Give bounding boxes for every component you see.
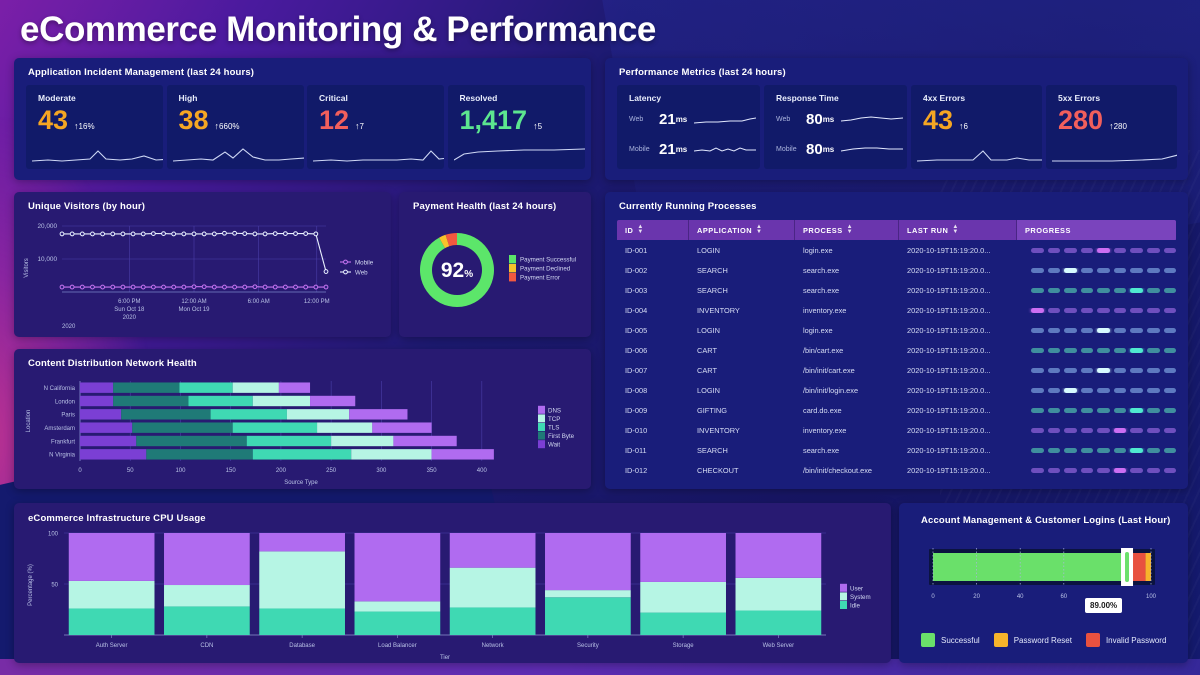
progress-segment (1164, 328, 1177, 333)
cell-application: INVENTORY (689, 306, 795, 315)
svg-text:6:00 AM: 6:00 AM (248, 299, 270, 305)
progress-segment (1147, 428, 1160, 433)
table-row[interactable]: ID-012 CHECKOUT /bin/init/checkout.exe 2… (617, 460, 1176, 480)
accounts-panel: Account Management & Customer Logins (La… (899, 503, 1188, 663)
incident-card-label: Resolved (460, 93, 498, 103)
cell-id: ID-006 (617, 346, 689, 355)
svg-text:300: 300 (376, 468, 387, 474)
svg-text:250: 250 (326, 468, 337, 474)
cell-last-run: 2020-10-19T15:19:20.0... (899, 446, 1017, 455)
progress-segment (1048, 428, 1061, 433)
cell-progress (1017, 448, 1176, 453)
progress-segment (1097, 268, 1110, 273)
progress-segment (1164, 288, 1177, 293)
incident-card-resolved[interactable]: Resolved 1,417 ↑5 (448, 85, 585, 169)
progress-segment (1031, 468, 1044, 473)
progress-segment (1064, 388, 1077, 393)
cell-process: inventory.exe (795, 306, 899, 315)
incident-card-label: Moderate (38, 93, 76, 103)
accounts-title: Account Management & Customer Logins (La… (921, 515, 1170, 526)
incident-sparkline (313, 139, 444, 165)
cell-id: ID-003 (617, 286, 689, 295)
svg-text:TCP: TCP (548, 416, 560, 423)
perf-card-label: Latency (629, 93, 661, 103)
sort-icon[interactable]: ▲▼ (756, 225, 762, 236)
svg-text:92%: 92% (441, 259, 473, 282)
svg-text:Storage: Storage (673, 643, 695, 649)
legend-label: Invalid Password (1106, 636, 1166, 645)
svg-text:Web: Web (355, 269, 368, 276)
cell-process: search.exe (795, 266, 899, 275)
progress-segment (1031, 328, 1044, 333)
sort-icon[interactable]: ▲▼ (637, 225, 643, 236)
svg-text:12:00 PM: 12:00 PM (304, 299, 330, 305)
progress-segment (1081, 308, 1094, 313)
table-row[interactable]: ID-003 SEARCH search.exe 2020-10-19T15:1… (617, 280, 1176, 300)
progress-segment (1031, 288, 1044, 293)
cpu-usage-chart[interactable]: 50100Auth ServerCDNDatabaseLoad Balancer… (14, 527, 891, 663)
incident-card-delta: ↑16% (74, 121, 95, 131)
cell-application: CART (689, 366, 795, 375)
progress-segment (1097, 448, 1110, 453)
processes-panel: Currently Running Processes ID▲▼APPLICAT… (605, 192, 1188, 489)
sort-icon[interactable]: ▲▼ (847, 225, 853, 236)
incident-sparkline (454, 139, 585, 165)
svg-text:System: System (850, 594, 871, 601)
perf-card-latency[interactable]: Latency Web 21 ms Mobile 21 ms (617, 85, 760, 169)
column-header-label: PROCESS (803, 226, 843, 235)
cell-progress (1017, 308, 1176, 313)
progress-segment (1081, 328, 1094, 333)
perf-row: Mobile 21 ms (629, 141, 756, 158)
cell-last-run: 2020-10-19T15:19:20.0... (899, 426, 1017, 435)
svg-text:N California: N California (44, 386, 76, 392)
progress-segment (1097, 288, 1110, 293)
perf-row-unit: ms (823, 145, 835, 154)
cell-id: ID-004 (617, 306, 689, 315)
svg-text:6:00 PM: 6:00 PM (118, 299, 140, 305)
legend-item-password-reset[interactable]: Password Reset (994, 633, 1072, 647)
cell-progress (1017, 428, 1176, 433)
progress-segment (1048, 248, 1061, 253)
cell-process: /bin/init/login.exe (795, 386, 899, 395)
progress-segment (1147, 288, 1160, 293)
progress-segment (1147, 468, 1160, 473)
svg-text:20,000: 20,000 (37, 223, 57, 230)
svg-text:20: 20 (973, 594, 980, 600)
svg-text:50: 50 (51, 582, 58, 588)
perf-card-response-time[interactable]: Response Time Web 80 ms Mobile 80 ms (764, 85, 907, 169)
cell-last-run: 2020-10-19T15:19:20.0... (899, 306, 1017, 315)
unique-visitors-panel: Unique Visitors (by hour) 10,00020,0006:… (14, 192, 391, 337)
table-row[interactable]: ID-001 LOGIN login.exe 2020-10-19T15:19:… (617, 240, 1176, 260)
progress-segment (1081, 468, 1094, 473)
progress-segment (1064, 428, 1077, 433)
svg-text:Tier: Tier (440, 655, 450, 661)
accounts-legend: Successful Password Reset Invalid Passwo… (921, 633, 1166, 647)
page-title: eCommerce Monitoring & Performance (20, 10, 656, 50)
progress-segment (1031, 268, 1044, 273)
progress-segment (1031, 348, 1044, 353)
perf-row-value: 80 (806, 141, 823, 158)
progress-segment (1164, 248, 1177, 253)
cell-progress (1017, 368, 1176, 373)
progress-segment (1130, 288, 1143, 293)
perf-row-device: Mobile (776, 146, 806, 153)
table-row[interactable]: ID-011 SEARCH search.exe 2020-10-19T15:1… (617, 440, 1176, 460)
svg-text:400: 400 (477, 468, 488, 474)
cell-application: LOGIN (689, 326, 795, 335)
incident-panel-title: Application Incident Management (last 24… (28, 67, 254, 78)
cell-id: ID-001 (617, 246, 689, 255)
cell-progress (1017, 348, 1176, 353)
progress-segment (1114, 248, 1127, 253)
table-row[interactable]: ID-006 CART /bin/cart.exe 2020-10-19T15:… (617, 340, 1176, 360)
progress-segment (1147, 328, 1160, 333)
perf-row-sparkline (841, 112, 903, 128)
cell-id: ID-002 (617, 266, 689, 275)
perf-card-4xx-errors[interactable]: 4xx Errors 43 ↑6 (911, 85, 1042, 169)
progress-segment (1114, 368, 1127, 373)
table-row[interactable]: ID-009 GIFTING card.do.exe 2020-10-19T15… (617, 400, 1176, 420)
legend-label: Successful (941, 636, 980, 645)
svg-text:2020: 2020 (123, 315, 137, 321)
svg-text:200: 200 (276, 468, 287, 474)
incident-card-value: 1,417 (460, 107, 528, 134)
progress-segment (1114, 408, 1127, 413)
svg-text:CDN: CDN (200, 643, 213, 649)
incident-card-label: Critical (319, 93, 348, 103)
progress-segment (1064, 308, 1077, 313)
svg-text:0: 0 (931, 594, 935, 600)
progress-segment (1147, 408, 1160, 413)
progress-segment (1031, 428, 1044, 433)
incident-card-delta: ↑5 (533, 121, 542, 131)
column-header-process[interactable]: PROCESS▲▼ (795, 220, 899, 240)
column-header-label: APPLICATION (697, 226, 752, 235)
progress-segment (1114, 288, 1127, 293)
progress-segment (1048, 448, 1061, 453)
table-row[interactable]: ID-005 LOGIN login.exe 2020-10-19T15:19:… (617, 320, 1176, 340)
progress-segment (1097, 468, 1110, 473)
processes-table[interactable]: ID▲▼APPLICATION▲▼PROCESS▲▼LAST RUN▲▼PROG… (617, 220, 1176, 480)
cdn-health-panel: Content Distribution Network Health 0501… (14, 349, 591, 489)
cell-process: login.exe (795, 246, 899, 255)
column-header-label: LAST RUN (907, 226, 948, 235)
progress-segment (1081, 248, 1094, 253)
incident-card-moderate[interactable]: Moderate 43 ↑16% (26, 85, 163, 169)
progress-segment (1064, 448, 1077, 453)
progress-segment (1164, 388, 1177, 393)
cell-last-run: 2020-10-19T15:19:20.0... (899, 386, 1017, 395)
cell-last-run: 2020-10-19T15:19:20.0... (899, 466, 1017, 475)
progress-segment (1164, 308, 1177, 313)
performance-panel: Performance Metrics (last 24 hours) Late… (605, 58, 1188, 180)
legend-swatch (1086, 633, 1100, 647)
svg-text:Web Server: Web Server (763, 643, 795, 649)
svg-text:150: 150 (226, 468, 237, 474)
payment-health-donut[interactable]: 92%Payment SuccessfulPayment DeclinedPay… (399, 220, 591, 332)
svg-text:User: User (850, 585, 863, 592)
perf-row-value: 80 (806, 111, 823, 128)
perf-row-device: Web (629, 116, 659, 123)
perf-card-label: Response Time (776, 93, 839, 103)
svg-text:Wait: Wait (548, 442, 560, 449)
progress-segment (1114, 348, 1127, 353)
cell-last-run: 2020-10-19T15:19:20.0... (899, 326, 1017, 335)
incident-card-high[interactable]: High 38 ↑660% (167, 85, 304, 169)
progress-segment (1097, 388, 1110, 393)
progress-segment (1114, 328, 1127, 333)
perf-row-sparkline (694, 142, 756, 158)
processes-title: Currently Running Processes (619, 201, 757, 212)
perf-card-value: 43 (923, 107, 953, 134)
payment-health-panel: Payment Health (last 24 hours) 92%Paymen… (399, 192, 591, 337)
cpu-usage-panel: eCommerce Infrastructure CPU Usage 50100… (14, 503, 891, 663)
legend-label: Password Reset (1014, 636, 1072, 645)
progress-segment (1114, 268, 1127, 273)
cell-last-run: 2020-10-19T15:19:20.0... (899, 406, 1017, 415)
incident-card-delta: ↑660% (215, 121, 240, 131)
svg-text:Frankfurt: Frankfurt (51, 439, 75, 445)
progress-segment (1164, 268, 1177, 273)
progress-segment (1081, 448, 1094, 453)
progress-segment (1031, 408, 1044, 413)
cell-progress (1017, 388, 1176, 393)
progress-segment (1097, 368, 1110, 373)
column-header-application[interactable]: APPLICATION▲▼ (689, 220, 795, 240)
svg-text:10,000: 10,000 (37, 256, 57, 263)
svg-text:Sun Oct 18: Sun Oct 18 (114, 307, 145, 313)
progress-segment (1130, 348, 1143, 353)
cpu-usage-title: eCommerce Infrastructure CPU Usage (28, 513, 206, 524)
progress-segment (1048, 268, 1061, 273)
cell-application: LOGIN (689, 386, 795, 395)
progress-segment (1081, 408, 1094, 413)
column-header-progress[interactable]: PROGRESS (1017, 220, 1176, 240)
perf-card-5xx-errors[interactable]: 5xx Errors 280 ↑280 (1046, 85, 1177, 169)
perf-card-sparkline (917, 139, 1042, 165)
cell-last-run: 2020-10-19T15:19:20.0... (899, 246, 1017, 255)
progress-segment (1147, 448, 1160, 453)
progress-segment (1081, 288, 1094, 293)
column-header-label: ID (625, 226, 633, 235)
progress-segment (1164, 448, 1177, 453)
incident-card-critical[interactable]: Critical 12 ↑7 (307, 85, 444, 169)
progress-segment (1164, 468, 1177, 473)
accounts-gauge-chart[interactable]: 0204060100 (899, 535, 1188, 625)
perf-row-unit: ms (676, 115, 688, 124)
progress-segment (1130, 388, 1143, 393)
svg-text:Idle: Idle (850, 603, 861, 610)
cell-application: GIFTING (689, 406, 795, 415)
progress-segment (1031, 248, 1044, 253)
legend-item-successful[interactable]: Successful (921, 633, 980, 647)
svg-text:60: 60 (1060, 594, 1067, 600)
progress-segment (1130, 328, 1143, 333)
svg-text:0: 0 (78, 468, 82, 474)
svg-text:First Byte: First Byte (548, 433, 575, 440)
progress-segment (1064, 248, 1077, 253)
incident-card-value: 38 (179, 107, 209, 134)
svg-text:350: 350 (427, 468, 438, 474)
perf-row-value: 21 (659, 111, 676, 128)
cell-last-run: 2020-10-19T15:19:20.0... (899, 346, 1017, 355)
perf-row-device: Mobile (629, 146, 659, 153)
sort-icon[interactable]: ▲▼ (952, 225, 958, 236)
perf-row-device: Web (776, 116, 806, 123)
cell-progress (1017, 328, 1176, 333)
table-row[interactable]: ID-002 SEARCH search.exe 2020-10-19T15:1… (617, 260, 1176, 280)
cell-last-run: 2020-10-19T15:19:20.0... (899, 266, 1017, 275)
svg-text:Payment Error: Payment Error (520, 275, 560, 282)
svg-text:Network: Network (482, 643, 505, 649)
cell-last-run: 2020-10-19T15:19:20.0... (899, 366, 1017, 375)
progress-segment (1081, 428, 1094, 433)
table-row[interactable]: ID-008 LOGIN /bin/init/login.exe 2020-10… (617, 380, 1176, 400)
progress-segment (1164, 428, 1177, 433)
progress-segment (1064, 468, 1077, 473)
perf-card-delta: ↑6 (959, 121, 968, 131)
table-row[interactable]: ID-004 INVENTORY inventory.exe 2020-10-1… (617, 300, 1176, 320)
cell-id: ID-007 (617, 366, 689, 375)
cdn-health-chart[interactable]: 050100150200250300350400N CaliforniaLond… (14, 371, 591, 489)
progress-segment (1164, 368, 1177, 373)
perf-row-sparkline (694, 112, 756, 128)
incident-card-label: High (179, 93, 198, 103)
progress-segment (1164, 348, 1177, 353)
perf-card-delta: ↑280 (1109, 121, 1127, 131)
progress-segment (1048, 308, 1061, 313)
perf-card-label: 4xx Errors (923, 93, 965, 103)
perf-row-sparkline (841, 142, 903, 158)
progress-segment (1097, 248, 1110, 253)
cell-progress (1017, 408, 1176, 413)
column-header-last-run[interactable]: LAST RUN▲▼ (899, 220, 1017, 240)
incident-card-delta: ↑7 (355, 121, 364, 131)
svg-text:TLS: TLS (548, 425, 559, 432)
perf-row-value: 21 (659, 141, 676, 158)
processes-table-body: ID-001 LOGIN login.exe 2020-10-19T15:19:… (617, 240, 1176, 480)
unique-visitors-chart[interactable]: 10,00020,0006:00 PMSun Oct 18202012:00 A… (14, 218, 391, 336)
progress-segment (1130, 268, 1143, 273)
cell-application: INVENTORY (689, 426, 795, 435)
cell-process: inventory.exe (795, 426, 899, 435)
progress-segment (1081, 388, 1094, 393)
svg-text:Mobile: Mobile (355, 259, 374, 266)
cell-progress (1017, 248, 1176, 253)
progress-segment (1164, 408, 1177, 413)
progress-segment (1048, 348, 1061, 353)
column-header-label: PROGRESS (1025, 226, 1071, 235)
svg-text:Database: Database (289, 643, 315, 649)
gauge-marker-label: 89.00% (1085, 598, 1122, 613)
perf-row: Web 21 ms (629, 111, 756, 128)
cdn-health-title: Content Distribution Network Health (28, 358, 197, 369)
cell-last-run: 2020-10-19T15:19:20.0... (899, 286, 1017, 295)
cell-progress (1017, 468, 1176, 473)
cell-process: login.exe (795, 326, 899, 335)
progress-segment (1031, 448, 1044, 453)
progress-segment (1114, 448, 1127, 453)
progress-segment (1130, 468, 1143, 473)
progress-segment (1147, 348, 1160, 353)
progress-segment (1147, 368, 1160, 373)
progress-segment (1064, 368, 1077, 373)
progress-segment (1130, 428, 1143, 433)
incident-sparkline (32, 139, 163, 165)
progress-segment (1147, 388, 1160, 393)
progress-segment (1031, 308, 1044, 313)
progress-segment (1130, 408, 1143, 413)
table-row[interactable]: ID-010 INVENTORY inventory.exe 2020-10-1… (617, 420, 1176, 440)
progress-segment (1048, 408, 1061, 413)
legend-swatch (994, 633, 1008, 647)
progress-segment (1048, 388, 1061, 393)
progress-segment (1064, 348, 1077, 353)
incident-card-value: 12 (319, 107, 349, 134)
svg-text:N Virginia: N Virginia (49, 453, 76, 459)
table-row[interactable]: ID-007 CART /bin/init/cart.exe 2020-10-1… (617, 360, 1176, 380)
progress-segment (1114, 428, 1127, 433)
progress-segment (1048, 288, 1061, 293)
perf-card-label: 5xx Errors (1058, 93, 1100, 103)
svg-text:Security: Security (577, 643, 599, 649)
svg-text:DNS: DNS (548, 407, 561, 414)
cell-process: /bin/cart.exe (795, 346, 899, 355)
progress-segment (1097, 428, 1110, 433)
cell-process: /bin/init/cart.exe (795, 366, 899, 375)
legend-item-invalid-password[interactable]: Invalid Password (1086, 633, 1166, 647)
cell-id: ID-010 (617, 426, 689, 435)
progress-segment (1097, 408, 1110, 413)
progress-segment (1097, 348, 1110, 353)
progress-segment (1147, 268, 1160, 273)
cell-process: search.exe (795, 286, 899, 295)
cell-application: CART (689, 346, 795, 355)
cell-application: CHECKOUT (689, 466, 795, 475)
progress-segment (1130, 308, 1143, 313)
progress-segment (1147, 248, 1160, 253)
progress-segment (1081, 368, 1094, 373)
progress-segment (1031, 368, 1044, 373)
incident-sparkline (173, 139, 304, 165)
progress-segment (1147, 308, 1160, 313)
progress-segment (1114, 468, 1127, 473)
perf-row: Web 80 ms (776, 111, 903, 128)
performance-panel-title: Performance Metrics (last 24 hours) (619, 67, 786, 78)
svg-text:Payment Declined: Payment Declined (520, 266, 571, 273)
cell-progress (1017, 268, 1176, 273)
svg-text:Percentage (%): Percentage (%) (28, 564, 34, 606)
column-header-id[interactable]: ID▲▼ (617, 220, 689, 240)
progress-segment (1064, 328, 1077, 333)
svg-text:12:00 AM: 12:00 AM (181, 299, 206, 305)
svg-text:50: 50 (127, 468, 134, 474)
progress-segment (1097, 308, 1110, 313)
perf-card-sparkline (1052, 139, 1177, 165)
svg-text:100: 100 (48, 531, 59, 537)
legend-swatch (921, 633, 935, 647)
svg-text:Auth Server: Auth Server (96, 643, 128, 649)
cell-id: ID-012 (617, 466, 689, 475)
progress-segment (1064, 268, 1077, 273)
cell-id: ID-011 (617, 446, 689, 455)
progress-segment (1097, 328, 1110, 333)
perf-row-unit: ms (823, 115, 835, 124)
svg-text:100: 100 (1146, 594, 1157, 600)
svg-text:Load Balancer: Load Balancer (378, 643, 417, 649)
